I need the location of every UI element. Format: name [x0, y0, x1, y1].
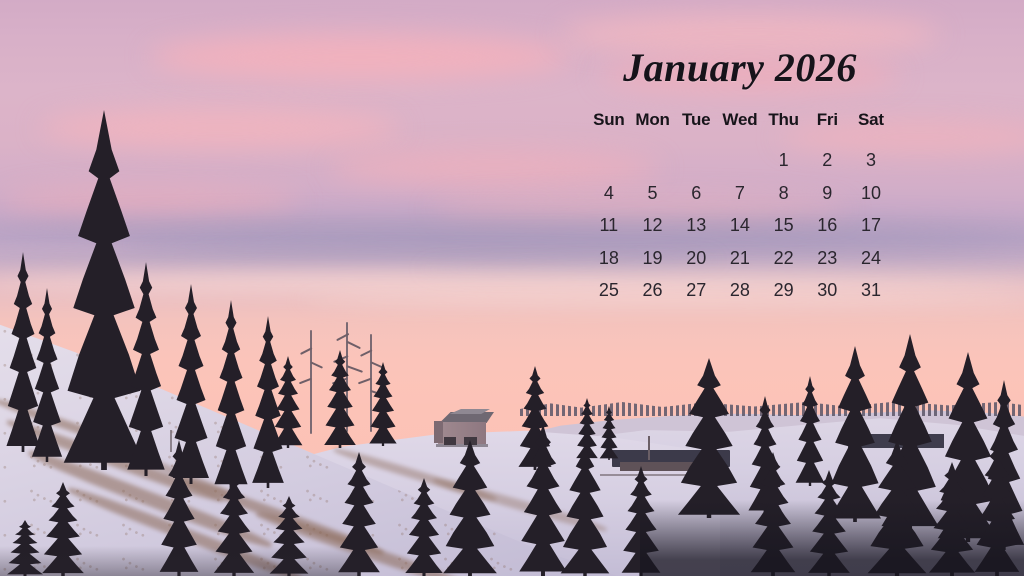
- foreground-shadow: [0, 546, 360, 576]
- weekday-header-sun: Sun: [587, 110, 631, 130]
- calendar-day-cell[interactable]: 12: [631, 209, 675, 242]
- fence-rail: [600, 474, 690, 476]
- calendar-week-row: 11 12 13 14 15 16 17: [587, 209, 893, 242]
- calendar-day-cell[interactable]: 22: [762, 242, 806, 275]
- calendar-day-cell[interactable]: [631, 144, 675, 177]
- barn-wall-side: [434, 421, 443, 443]
- weekday-header-thu: Thu: [762, 110, 806, 130]
- calendar-week-row: 1 2 3: [587, 144, 893, 177]
- weekday-header-fri: Fri: [805, 110, 849, 130]
- calendar-day-cell[interactable]: 5: [631, 177, 675, 210]
- bare-tree: [296, 330, 326, 434]
- calendar-day-cell[interactable]: 7: [718, 177, 762, 210]
- calendar-day-cell[interactable]: 23: [805, 242, 849, 275]
- calendar-grid: Sun Mon Tue Wed Thu Fri Sat 1 2 3 4 5: [587, 110, 893, 307]
- calendar-day-cell[interactable]: 8: [762, 177, 806, 210]
- weekday-header-wed: Wed: [718, 110, 762, 130]
- calendar-day-cell[interactable]: 1: [762, 144, 806, 177]
- calendar-day-cell[interactable]: 14: [718, 209, 762, 242]
- calendar-day-cell[interactable]: 15: [762, 209, 806, 242]
- calendar-day-cell[interactable]: 13: [674, 209, 718, 242]
- calendar-day-cell[interactable]: 21: [718, 242, 762, 275]
- fence-post: [170, 430, 172, 452]
- calendar-day-cell[interactable]: [587, 144, 631, 177]
- calendar-day-cell[interactable]: 26: [631, 274, 675, 307]
- calendar-day-cell[interactable]: 30: [805, 274, 849, 307]
- barn-shadow: [436, 444, 488, 447]
- calendar-weekday-header-row: Sun Mon Tue Wed Thu Fri Sat: [587, 110, 893, 130]
- distant-treeline: [520, 388, 1024, 416]
- calendar-week-row: 4 5 6 7 8 9 10: [587, 177, 893, 210]
- calendar-title: January 2026: [560, 42, 920, 88]
- calendar-day-cell[interactable]: 20: [674, 242, 718, 275]
- barn-building: [432, 404, 494, 448]
- calendar-week-row: 25 26 27 28 29 30 31: [587, 274, 893, 307]
- calendar-day-cell[interactable]: [718, 144, 762, 177]
- calendar-day-cell[interactable]: 31: [849, 274, 893, 307]
- calendar-widget: January 2026 Sun Mon Tue Wed Thu Fri Sat…: [560, 42, 920, 307]
- calendar-day-cell[interactable]: 19: [631, 242, 675, 275]
- weekday-header-sat: Sat: [849, 110, 893, 130]
- calendar-week-row: 18 19 20 21 22 23 24: [587, 242, 893, 275]
- calendar-day-cell[interactable]: 24: [849, 242, 893, 275]
- calendar-day-cell[interactable]: 11: [587, 209, 631, 242]
- calendar-day-cell[interactable]: 9: [805, 177, 849, 210]
- calendar-day-cell[interactable]: 6: [674, 177, 718, 210]
- calendar-day-cell[interactable]: 18: [587, 242, 631, 275]
- calendar-header-spacer: [587, 130, 893, 144]
- weekday-header-tue: Tue: [674, 110, 718, 130]
- calendar-day-cell[interactable]: 3: [849, 144, 893, 177]
- fence-post: [648, 436, 650, 460]
- calendar-day-cell[interactable]: 27: [674, 274, 718, 307]
- calendar-day-cell[interactable]: 28: [718, 274, 762, 307]
- foreground-shadow: [640, 500, 1024, 576]
- calendar-day-cell[interactable]: 4: [587, 177, 631, 210]
- calendar-day-cell[interactable]: [674, 144, 718, 177]
- calendar-day-cell[interactable]: 17: [849, 209, 893, 242]
- calendar-day-cell[interactable]: 16: [805, 209, 849, 242]
- calendar-day-cell[interactable]: 2: [805, 144, 849, 177]
- calendar-wallpaper: January 2026 Sun Mon Tue Wed Thu Fri Sat…: [0, 0, 1024, 576]
- weekday-header-mon: Mon: [631, 110, 675, 130]
- calendar-day-cell[interactable]: 29: [762, 274, 806, 307]
- calendar-day-cell[interactable]: 10: [849, 177, 893, 210]
- calendar-day-cell[interactable]: 25: [587, 274, 631, 307]
